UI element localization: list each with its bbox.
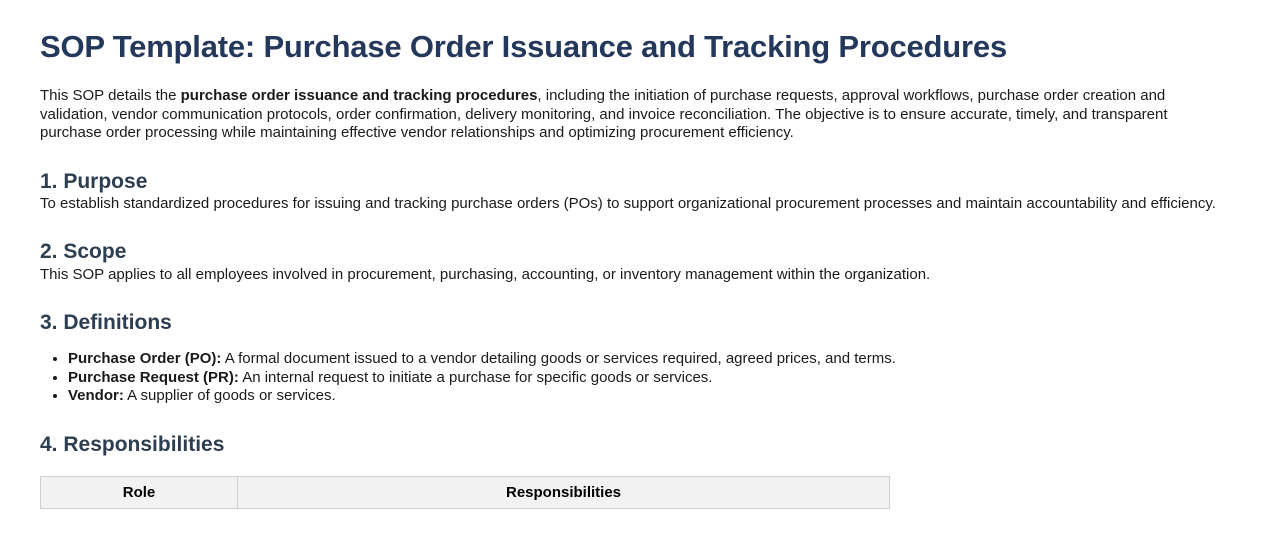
table-header: Role Responsibilities <box>41 477 890 509</box>
list-item: Vendor: A supplier of goods or services. <box>68 387 1223 406</box>
section-heading-definitions: 3. Definitions <box>40 310 1223 336</box>
definition-text: A formal document issued to a vendor det… <box>221 350 896 367</box>
definition-term: Purchase Order (PO): <box>68 350 221 367</box>
intro-paragraph: This SOP details the purchase order issu… <box>40 87 1223 143</box>
intro-lead: This SOP details the <box>40 87 181 104</box>
document-page: SOP Template: Purchase Order Issuance an… <box>0 0 1263 509</box>
page-title: SOP Template: Purchase Order Issuance an… <box>40 28 1223 65</box>
intro-bold-phrase: purchase order issuance and tracking pro… <box>181 87 538 104</box>
definition-text: A supplier of goods or services. <box>124 387 336 404</box>
list-item: Purchase Order (PO): A formal document i… <box>68 350 1223 369</box>
definition-term: Purchase Request (PR): <box>68 369 239 386</box>
list-item: Purchase Request (PR): An internal reque… <box>68 369 1223 388</box>
section-heading-purpose: 1. Purpose <box>40 169 1223 195</box>
section-heading-scope: 2. Scope <box>40 239 1223 265</box>
responsibilities-table: Role Responsibilities <box>40 476 890 509</box>
definition-term: Vendor: <box>68 387 124 404</box>
definitions-list: Purchase Order (PO): A formal document i… <box>40 350 1223 406</box>
section-body-purpose: To establish standardized procedures for… <box>40 195 1223 214</box>
table-column-header-role: Role <box>41 477 238 509</box>
table-row: Role Responsibilities <box>41 477 890 509</box>
section-body-scope: This SOP applies to all employees involv… <box>40 266 1223 285</box>
definition-text: An internal request to initiate a purcha… <box>239 369 713 386</box>
table-column-header-responsibilities: Responsibilities <box>238 477 890 509</box>
section-heading-responsibilities: 4. Responsibilities <box>40 432 1223 458</box>
